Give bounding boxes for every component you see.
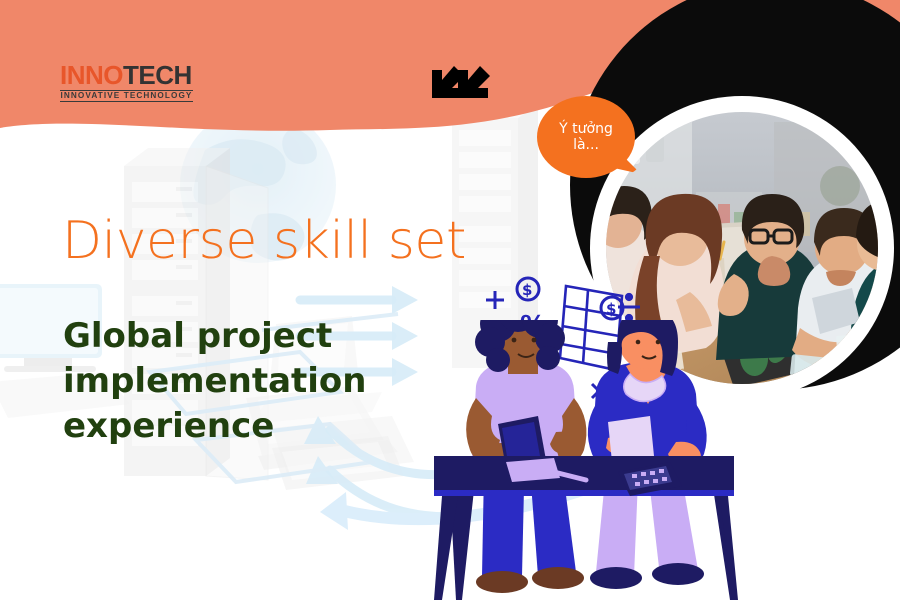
page-subheadline: Global project implementation experience [63, 314, 393, 450]
quote-arrows-icon [424, 62, 496, 108]
speech-bubble-body: Ý tưởng là... [537, 96, 635, 178]
desk-illustration [420, 320, 740, 600]
speech-bubble-line-1: Ý tưởng [559, 121, 613, 137]
speech-bubble-line-2: là... [559, 137, 613, 153]
logo-inno-text: INNO [60, 60, 123, 90]
logo-wordmark: INNOTECH [60, 62, 193, 88]
subheadline-line-3: experience [63, 404, 393, 449]
person-right [588, 320, 707, 589]
subheadline-line-1: Global project [63, 314, 393, 359]
poster-canvas: $ $ % [0, 0, 900, 600]
page-headline: Diverse skill set [62, 211, 466, 271]
speech-bubble-text: Ý tưởng là... [559, 121, 613, 153]
speech-bubble: Ý tưởng là... [537, 96, 635, 178]
subheadline-line-2: implementation [63, 359, 393, 404]
logo-tech-text: TECH [123, 60, 192, 90]
logo-tagline: INNOVATIVE TECHNOLOGY [60, 90, 193, 102]
brand-logo: INNOTECH INNOVATIVE TECHNOLOGY [60, 62, 193, 102]
